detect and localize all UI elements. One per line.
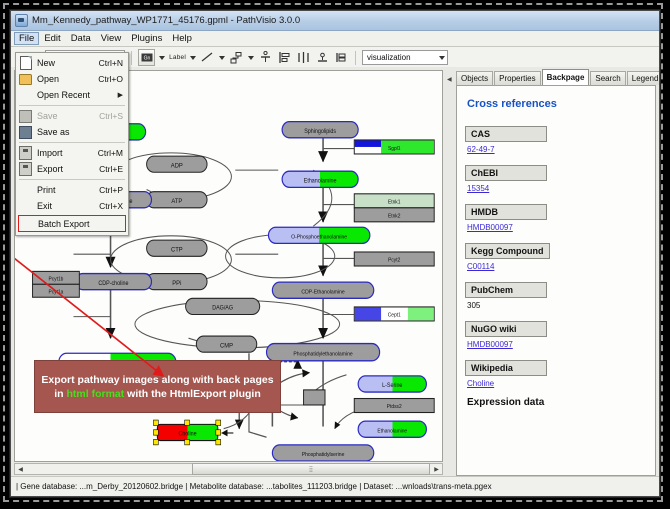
menu-file[interactable]: File (14, 32, 39, 45)
align-left-icon[interactable] (277, 50, 292, 65)
menu-item-label: Save as (37, 127, 123, 137)
menu-item-label: Print (37, 185, 99, 195)
node-l-serine: L-Serine (358, 376, 426, 392)
blank-icon-2 (19, 184, 32, 197)
expression-data-title: Expression data (467, 397, 655, 408)
node-phosphatidylethanolamine: Phosphatidylethanolamine (267, 344, 380, 361)
status-bar-text: | Gene database: ...m_Derby_20120602.bri… (16, 482, 492, 491)
interaction-dropdown-icon[interactable] (248, 56, 254, 60)
menu-item-accel: Ctrl+N (99, 58, 128, 68)
menu-item-label: Import (37, 148, 98, 158)
menu-item-accel: Ctrl+E (99, 164, 128, 174)
gene-box-small-anchor (304, 390, 325, 405)
svg-text:Pcyt2: Pcyt2 (388, 257, 400, 263)
annotation-callout: Export pathway images along with back pa… (34, 360, 281, 413)
blank-icon-3 (19, 200, 32, 213)
menu-item-exit[interactable]: Exit Ctrl+X (16, 198, 128, 214)
svg-text:L-Serine: L-Serine (382, 383, 402, 389)
align-top-icon[interactable] (258, 50, 273, 65)
xref-source-label: CAS (465, 126, 547, 142)
menu-view[interactable]: View (96, 32, 126, 45)
menu-item-save: Save Ctrl+S (16, 108, 128, 124)
visualization-value: visualization (367, 53, 411, 62)
menu-edit[interactable]: Edit (39, 32, 65, 45)
xref-link-hmdb[interactable]: HMDB00097 (467, 223, 655, 232)
menu-item-import[interactable]: Import Ctrl+M (16, 145, 128, 161)
svg-text:Ethanolamine: Ethanolamine (304, 178, 337, 184)
gene-box-etnk1: Etnk1 (354, 194, 434, 208)
xref-cas: CAS 62-49-7 (465, 124, 655, 154)
menu-item-label: Batch Export (20, 219, 125, 229)
title-bar: Mm_Kennedy_pathway_WP1771_45176.gpml - P… (11, 11, 659, 31)
xref-wikipedia: Wikipedia Choline (465, 358, 655, 388)
svg-text:Phosphatidylserine: Phosphatidylserine (302, 452, 345, 458)
export-icon (19, 163, 32, 176)
menu-item-accel: Ctrl+X (99, 201, 128, 211)
menu-item-batch-export[interactable]: Batch Export (18, 215, 126, 232)
menu-bar: File Edit Data View Plugins Help (11, 31, 659, 47)
svg-text:DAG/AG: DAG/AG (212, 305, 233, 311)
menu-item-label: Save (37, 111, 99, 121)
menu-item-accel: Ctrl+O (98, 74, 128, 84)
datanode-tool-icon[interactable]: Gn (138, 49, 155, 66)
menu-item-label: Export (37, 164, 99, 174)
gene-box-ptdss2: Ptdss2 (354, 399, 434, 413)
xref-link-wikipedia[interactable]: Choline (467, 379, 655, 388)
screenshot-root: Mm_Kennedy_pathway_WP1771_45176.gpml - P… (0, 0, 670, 509)
svg-text:Etnk2: Etnk2 (388, 213, 401, 219)
side-panel: ◀ Objects Properties Backpage Search Leg… (445, 67, 659, 476)
menu-item-open-recent[interactable]: Open Recent ▶ (16, 87, 128, 103)
menu-data[interactable]: Data (66, 32, 96, 45)
label-tool-icon[interactable]: Label (169, 54, 186, 61)
xref-link-cas[interactable]: 62-49-7 (467, 145, 655, 154)
new-file-icon (19, 57, 32, 70)
menu-item-open[interactable]: Open Ctrl+O (16, 71, 128, 87)
xref-pubchem: PubChem 305 (465, 280, 655, 310)
tab-properties[interactable]: Properties (494, 71, 540, 85)
node-ethanolamine-bottom: Ethanolamine (358, 421, 426, 437)
xref-chebi: ChEBI 15354 (465, 163, 655, 193)
backpage-content: Cross references CAS 62-49-7 ChEBI 15354… (456, 85, 656, 476)
svg-text:O-Phosphoethanolamine: O-Phosphoethanolamine (291, 234, 347, 240)
node-ppi: PPi (147, 274, 207, 290)
svg-text:Etnk1: Etnk1 (388, 199, 401, 205)
menu-item-new[interactable]: New Ctrl+N (16, 55, 128, 71)
menu-item-print[interactable]: Print Ctrl+P (16, 182, 128, 198)
chevron-down-icon-2 (439, 56, 445, 60)
tab-legend[interactable]: Legend (627, 71, 660, 85)
menu-item-accel: Ctrl+M (98, 148, 128, 158)
toolbar-separator-2 (355, 51, 356, 65)
pathvisio-application-window: Mm_Kennedy_pathway_WP1771_45176.gpml - P… (10, 10, 660, 497)
menu-separator-2 (19, 142, 125, 143)
node-o-phosphoethanolamine: O-Phosphoethanolamine (268, 227, 369, 243)
tab-objects[interactable]: Objects (456, 71, 493, 85)
svg-text:Pcyt1b: Pcyt1b (49, 276, 64, 282)
menu-help[interactable]: Help (167, 32, 197, 45)
svg-text:Sgpl1: Sgpl1 (388, 146, 401, 152)
node-cmp: CMP (196, 336, 256, 352)
node-cdp-choline: CDP-choline (75, 274, 151, 290)
menu-separator-3 (19, 179, 125, 180)
svg-text:Gn: Gn (143, 56, 150, 62)
menu-item-export[interactable]: Export Ctrl+E (16, 161, 128, 177)
xref-link-chebi[interactable]: 15354 (467, 184, 655, 193)
gene-box-etnk2: Etnk2 (354, 208, 434, 222)
stack-icon[interactable] (334, 50, 349, 65)
svg-text:Sphingolipids: Sphingolipids (304, 129, 336, 135)
menu-item-save-as[interactable]: Save as (16, 124, 128, 140)
visualization-combobox[interactable]: visualization (362, 50, 448, 65)
gene-box-pcyt1a: Pcyt1a (33, 284, 80, 297)
line-dropdown-icon[interactable] (219, 56, 225, 60)
save-as-disk-icon (19, 126, 32, 139)
cross-references-title: Cross references (467, 98, 655, 110)
callout-text-after: with the HtmlExport plugin (124, 388, 261, 400)
file-menu-dropdown[interactable]: New Ctrl+N Open Ctrl+O Open Recent ▶ Sav… (15, 52, 129, 236)
svg-text:ATP: ATP (171, 198, 182, 205)
gene-box-pcyt1b: Pcyt1b (33, 271, 80, 284)
save-disk-icon (19, 110, 32, 123)
scroll-left-arrow-icon[interactable]: ◀ (15, 464, 26, 474)
xref-hmdb: HMDB HMDB00097 (465, 202, 655, 232)
xref-nugo-wiki: NuGO wiki HMDB00097 (465, 319, 655, 349)
tab-scroll-left-icon[interactable]: ◀ (447, 76, 452, 83)
menu-item-label: New (37, 58, 99, 68)
gene-box-cept1: Cept1 (354, 307, 434, 321)
callout-highlight: html format (67, 388, 125, 400)
tab-search[interactable]: Search (590, 71, 625, 85)
svg-text:CTP: CTP (171, 246, 183, 253)
gene-box-sgpl1: Sgpl1 (354, 140, 434, 154)
tab-backpage[interactable]: Backpage (542, 69, 590, 85)
xref-source-label: Wikipedia (465, 360, 547, 376)
menu-item-label: Open (37, 74, 98, 84)
node-ethanolamine-top: Ethanolamine (282, 171, 358, 187)
svg-text:PPi: PPi (172, 280, 181, 287)
menu-item-label: Exit (37, 201, 99, 211)
align-center-icon[interactable] (296, 50, 311, 65)
svg-text:Pcyt1a: Pcyt1a (49, 289, 64, 295)
menu-plugins[interactable]: Plugins (126, 32, 167, 45)
node-ctp: CTP (147, 240, 207, 256)
svg-text:Phosphatidylethanolamine: Phosphatidylethanolamine (293, 351, 352, 357)
scroll-right-arrow-icon[interactable]: ▶ (431, 464, 442, 474)
xref-source-label: ChEBI (465, 165, 547, 181)
submenu-arrow-icon: ▶ (118, 91, 128, 99)
xref-source-label: HMDB (465, 204, 547, 220)
canvas-horizontal-scrollbar[interactable]: ◀ ⣿ ▶ (14, 463, 443, 475)
interaction-tool-icon[interactable] (229, 50, 244, 65)
common-width-icon[interactable] (315, 50, 330, 65)
svg-text:Ptdss2: Ptdss2 (387, 404, 402, 410)
line-tool-icon[interactable] (200, 50, 215, 65)
xref-link-kegg[interactable]: C00114 (467, 262, 655, 271)
svg-text:CDP-choline: CDP-choline (98, 281, 128, 287)
xref-link-nugo[interactable]: HMDB00097 (467, 340, 655, 349)
open-folder-icon (19, 73, 32, 86)
xref-value-pubchem: 305 (467, 301, 655, 310)
node-sphingolipids: Sphingolipids (282, 122, 358, 138)
gene-box-pcyt2: Pcyt2 (354, 252, 434, 266)
svg-text:CDP-Ethanolamine: CDP-Ethanolamine (301, 289, 344, 295)
xref-source-label: PubChem (465, 282, 547, 298)
svg-text:CMP: CMP (220, 342, 233, 349)
menu-separator (19, 105, 125, 106)
xref-source-label: NuGO wiki (465, 321, 547, 337)
node-atp: ATP (147, 192, 207, 208)
label-dropdown-icon[interactable] (190, 56, 196, 60)
svg-text:ADP: ADP (171, 162, 183, 169)
node-adp: ADP (147, 156, 207, 172)
node-dag: DAG/AG (186, 298, 260, 314)
menu-item-label: Open Recent (37, 90, 118, 100)
import-icon (19, 147, 32, 160)
menu-item-accel: Ctrl+S (99, 111, 128, 121)
svg-text:Cept1: Cept1 (388, 312, 401, 318)
svg-text:Ethanolamine: Ethanolamine (377, 428, 407, 434)
xref-source-label: Kegg Compound (465, 243, 550, 259)
node-phosphatidylserine: Phosphatidylserine (272, 445, 373, 461)
window-title: Mm_Kennedy_pathway_WP1771_45176.gpml - P… (32, 15, 300, 26)
datanode-dropdown-icon[interactable] (159, 56, 165, 60)
side-panel-tabs: ◀ Objects Properties Backpage Search Leg… (445, 70, 656, 85)
blank-icon (19, 89, 32, 102)
node-cdp-ethanolamine: CDP-Ethanolamine (272, 282, 373, 298)
xref-kegg-compound: Kegg Compound C00114 (465, 241, 655, 271)
scroll-thumb[interactable]: ⣿ (192, 463, 430, 475)
status-bar: | Gene database: ...m_Derby_20120602.bri… (11, 476, 659, 496)
toolbar-separator (131, 51, 132, 65)
pathvisio-app-icon (15, 14, 28, 27)
menu-item-accel: Ctrl+P (99, 185, 128, 195)
svg-text:Choline: Choline (178, 431, 196, 437)
